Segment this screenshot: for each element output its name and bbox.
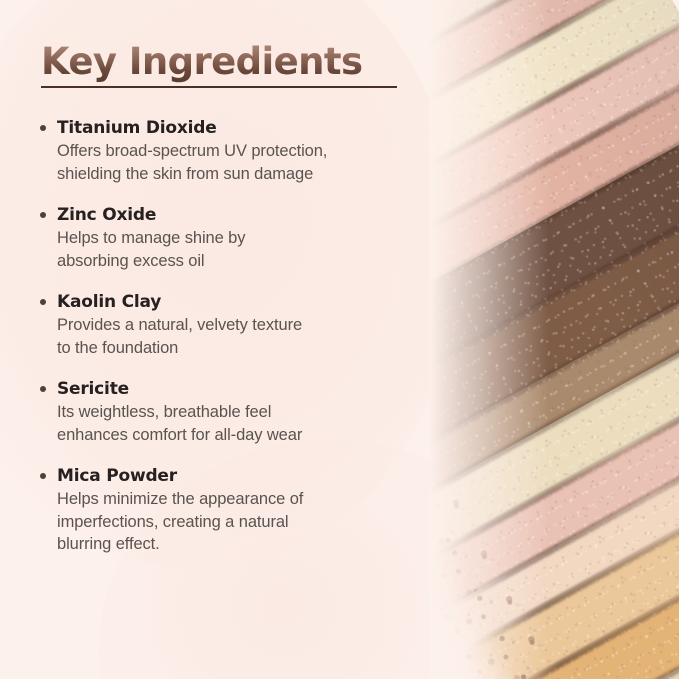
- ingredients-infographic: Key Ingredients Titanium DioxideOffers b…: [0, 0, 679, 679]
- ingredient-item: Kaolin ClayProvides a natural, velvety t…: [38, 291, 438, 359]
- ingredient-description: Offers broad-spectrum UV protection, shi…: [57, 140, 438, 185]
- bullet-icon: [40, 473, 46, 479]
- bullet-icon: [40, 212, 46, 218]
- ingredient-name: Kaolin Clay: [57, 291, 438, 313]
- ingredient-name: Mica Powder: [57, 465, 438, 487]
- ingredient-name: Titanium Dioxide: [57, 117, 438, 139]
- ingredient-name: Zinc Oxide: [57, 204, 438, 226]
- bullet-icon: [40, 386, 46, 392]
- ingredient-name: Sericite: [57, 378, 438, 400]
- bullet-icon: [40, 299, 46, 305]
- ingredient-description: Helps minimize the appearance of imperfe…: [57, 488, 438, 556]
- ingredient-item: Mica PowderHelps minimize the appearance…: [38, 465, 438, 556]
- title-block: Key Ingredients: [41, 40, 441, 88]
- bullet-icon: [40, 125, 46, 131]
- text-content: Key Ingredients Titanium DioxideOffers b…: [0, 0, 470, 679]
- ingredient-item: Titanium DioxideOffers broad-spectrum UV…: [38, 117, 438, 185]
- ingredient-item: Zinc OxideHelps to manage shine by absor…: [38, 204, 438, 272]
- ingredient-description: Its weightless, breathable feel enhances…: [57, 401, 438, 446]
- ingredient-list: Titanium DioxideOffers broad-spectrum UV…: [38, 117, 438, 556]
- ingredient-item: SericiteIts weightless, breathable feel …: [38, 378, 438, 446]
- ingredient-description: Provides a natural, velvety texture to t…: [57, 314, 438, 359]
- page-title: Key Ingredients: [41, 40, 441, 84]
- title-underline: [41, 86, 397, 88]
- ingredient-description: Helps to manage shine by absorbing exces…: [57, 227, 438, 272]
